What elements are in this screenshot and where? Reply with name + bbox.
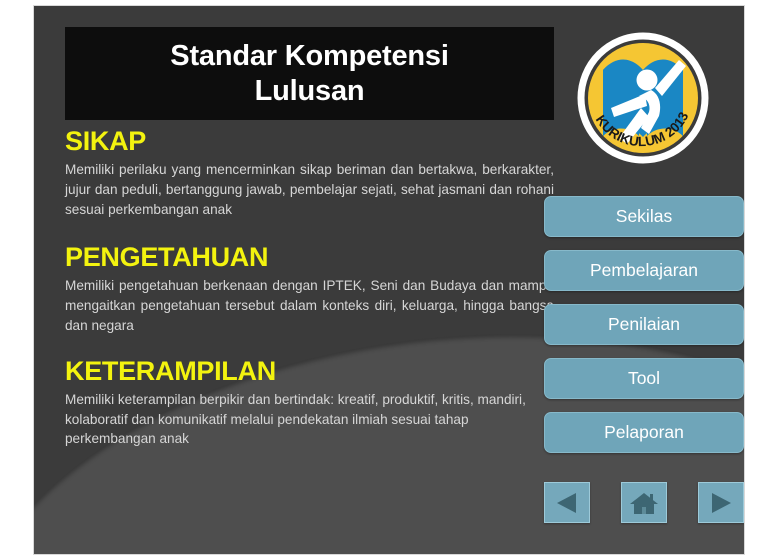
slide-root: Standar Kompetensi Lulusan SIKAP Memilik… <box>0 0 762 560</box>
nav-button-tool-label: Tool <box>628 368 660 389</box>
nav-button-pembelajaran-label: Pembelajaran <box>590 260 698 281</box>
home-button[interactable] <box>621 482 667 523</box>
triangle-left-icon <box>554 491 580 515</box>
section-pengetahuan-body: Memiliki pengetahuan berkenaan dengan IP… <box>65 276 554 336</box>
nav-button-sekilas-label: Sekilas <box>616 206 672 227</box>
triangle-right-icon <box>708 491 734 515</box>
slide-title: Standar Kompetensi Lulusan <box>160 39 458 107</box>
previous-slide-button[interactable] <box>544 482 590 523</box>
slide-title-line-2: Lulusan <box>255 75 365 107</box>
section-sikap-body: Memiliki perilaku yang mencerminkan sika… <box>65 160 554 220</box>
side-navigation: Sekilas Pembelajaran Penilaian Tool Pela… <box>544 196 744 466</box>
kurikulum-2013-logo-icon: KURIKULUM 2013 <box>567 24 719 176</box>
kurikulum-2013-logo: KURIKULUM 2013 <box>567 24 719 176</box>
nav-button-pelaporan[interactable]: Pelaporan <box>544 412 744 453</box>
section-keterampilan-heading: KETERAMPILAN <box>65 356 554 386</box>
nav-button-sekilas[interactable]: Sekilas <box>544 196 744 237</box>
nav-button-pembelajaran[interactable]: Pembelajaran <box>544 250 744 291</box>
next-slide-button[interactable] <box>698 482 744 523</box>
section-keterampilan: KETERAMPILAN Memiliki keterampilan berpi… <box>65 356 554 450</box>
section-pengetahuan: PENGETAHUAN Memiliki pengetahuan berkena… <box>65 242 554 336</box>
section-sikap: SIKAP Memiliki perilaku yang mencerminka… <box>65 126 554 220</box>
presentation-slide: Standar Kompetensi Lulusan SIKAP Memilik… <box>33 5 745 555</box>
nav-button-penilaian[interactable]: Penilaian <box>544 304 744 345</box>
slide-title-box: Standar Kompetensi Lulusan <box>65 27 554 120</box>
nav-button-tool[interactable]: Tool <box>544 358 744 399</box>
home-icon <box>629 490 659 516</box>
section-sikap-heading: SIKAP <box>65 126 554 156</box>
slide-navigation-bar <box>544 482 744 523</box>
nav-button-pelaporan-label: Pelaporan <box>604 422 684 443</box>
slide-content: SIKAP Memiliki perilaku yang mencerminka… <box>65 126 554 456</box>
section-keterampilan-body: Memiliki keterampilan berpikir dan berti… <box>65 390 554 450</box>
section-pengetahuan-heading: PENGETAHUAN <box>65 242 554 272</box>
slide-title-line-1: Standar Kompetensi <box>170 40 448 72</box>
nav-button-penilaian-label: Penilaian <box>608 314 680 335</box>
